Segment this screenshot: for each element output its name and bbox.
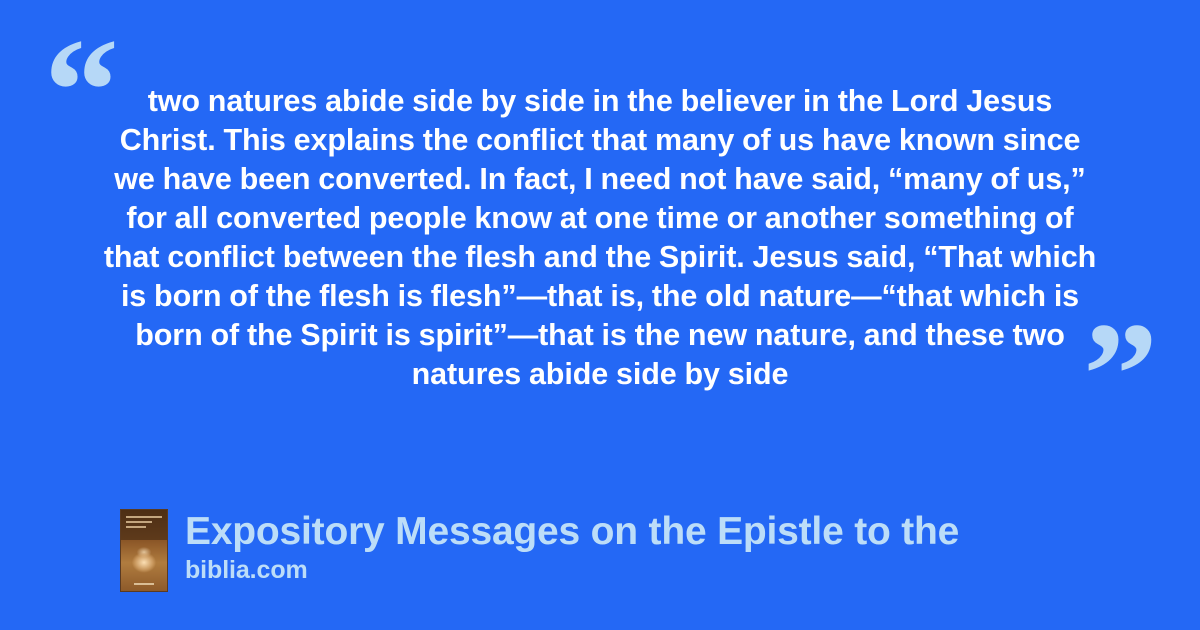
source-title[interactable]: Expository Messages on the Epistle to th…: [185, 510, 959, 554]
quote-card: “ two natures abide side by side in the …: [0, 0, 1200, 630]
attribution-text: Expository Messages on the Epistle to th…: [185, 509, 959, 584]
book-cover-thumbnail-icon[interactable]: [120, 509, 168, 592]
quote-text: two natures abide side by side in the be…: [100, 82, 1100, 394]
cover-byline: [134, 583, 154, 585]
quote-text-block: two natures abide side by side in the be…: [100, 82, 1100, 394]
cover-title-lines: [126, 516, 162, 531]
close-quote-icon: ”: [1083, 300, 1158, 450]
attribution[interactable]: Expository Messages on the Epistle to th…: [120, 509, 959, 592]
source-site[interactable]: biblia.com: [185, 556, 959, 584]
